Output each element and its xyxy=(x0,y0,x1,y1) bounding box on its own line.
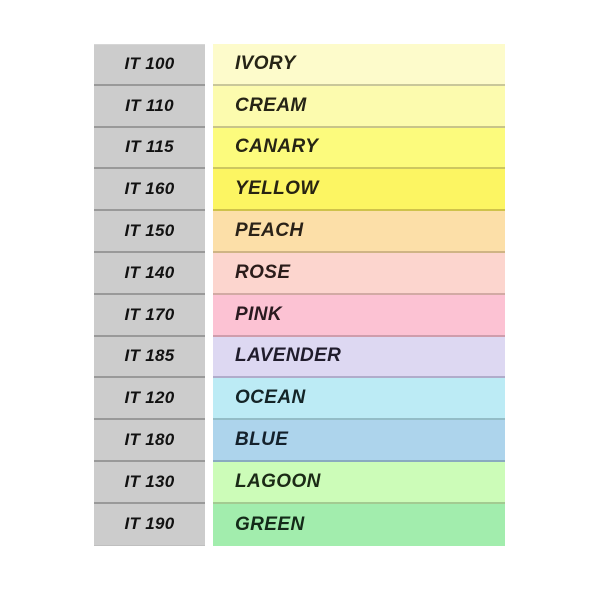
table-row: IT 160YELLOW xyxy=(94,169,505,211)
color-swatch-cell: GREEN xyxy=(213,504,505,546)
product-code-label: IT 140 xyxy=(125,263,175,283)
table-row: IT 180BLUE xyxy=(94,420,505,462)
column-gutter xyxy=(205,378,213,420)
color-swatch-cell: OCEAN xyxy=(213,378,505,420)
column-gutter xyxy=(205,420,213,462)
color-name-label: LAGOON xyxy=(235,471,321,493)
product-code-cell: IT 140 xyxy=(94,253,205,295)
product-code-cell: IT 160 xyxy=(94,169,205,211)
product-code-cell: IT 150 xyxy=(94,211,205,253)
column-gutter xyxy=(205,211,213,253)
color-swatch-cell: ROSE xyxy=(213,253,505,295)
color-name-label: BLUE xyxy=(235,429,288,451)
product-code-cell: IT 110 xyxy=(94,86,205,128)
color-name-label: OCEAN xyxy=(235,387,306,409)
color-name-label: LAVENDER xyxy=(235,345,341,367)
color-swatch-cell: CANARY xyxy=(213,128,505,170)
product-code-cell: IT 190 xyxy=(94,504,205,546)
column-gutter xyxy=(205,169,213,211)
table-row: IT 185LAVENDER xyxy=(94,337,505,379)
color-swatch-cell: CREAM xyxy=(213,86,505,128)
product-code-label: IT 100 xyxy=(125,54,175,74)
product-code-label: IT 120 xyxy=(125,388,175,408)
product-code-cell: IT 115 xyxy=(94,128,205,170)
table-row: IT 115CANARY xyxy=(94,128,505,170)
color-name-label: IVORY xyxy=(235,53,296,75)
color-name-label: PEACH xyxy=(235,220,304,242)
table-row: IT 100IVORY xyxy=(94,44,505,86)
table-row: IT 170PINK xyxy=(94,295,505,337)
product-code-cell: IT 185 xyxy=(94,337,205,379)
color-name-label: CREAM xyxy=(235,95,307,117)
table-row: IT 150PEACH xyxy=(94,211,505,253)
color-swatch-cell: IVORY xyxy=(213,44,505,86)
product-code-label: IT 115 xyxy=(125,137,174,157)
table-row: IT 110CREAM xyxy=(94,86,505,128)
product-code-label: IT 130 xyxy=(125,472,175,492)
column-gutter xyxy=(205,462,213,504)
column-gutter xyxy=(205,44,213,86)
color-swatch-cell: YELLOW xyxy=(213,169,505,211)
column-gutter xyxy=(205,128,213,170)
product-code-label: IT 180 xyxy=(125,430,175,450)
table-row: IT 140ROSE xyxy=(94,253,505,295)
color-swatch-cell: PEACH xyxy=(213,211,505,253)
color-swatch-cell: LAVENDER xyxy=(213,337,505,379)
column-gutter xyxy=(205,337,213,379)
column-gutter xyxy=(205,253,213,295)
table-row: IT 190GREEN xyxy=(94,504,505,546)
column-gutter xyxy=(205,504,213,546)
product-code-label: IT 190 xyxy=(125,514,175,534)
product-code-cell: IT 180 xyxy=(94,420,205,462)
color-swatch-cell: LAGOON xyxy=(213,462,505,504)
product-code-cell: IT 130 xyxy=(94,462,205,504)
product-code-cell: IT 170 xyxy=(94,295,205,337)
product-code-label: IT 160 xyxy=(125,179,175,199)
table-row: IT 130LAGOON xyxy=(94,462,505,504)
color-name-label: ROSE xyxy=(235,262,290,284)
product-code-cell: IT 100 xyxy=(94,44,205,86)
product-code-label: IT 110 xyxy=(125,96,174,116)
column-gutter xyxy=(205,295,213,337)
color-name-label: YELLOW xyxy=(235,178,319,200)
product-code-label: IT 150 xyxy=(125,221,175,241)
color-name-label: CANARY xyxy=(235,136,318,158)
color-swatch-table: IT 100IVORYIT 110CREAMIT 115CANARYIT 160… xyxy=(94,44,505,546)
color-chart-page: IT 100IVORYIT 110CREAMIT 115CANARYIT 160… xyxy=(0,0,600,600)
color-swatch-cell: PINK xyxy=(213,295,505,337)
color-name-label: PINK xyxy=(235,304,282,326)
color-swatch-cell: BLUE xyxy=(213,420,505,462)
color-name-label: GREEN xyxy=(235,514,305,536)
product-code-cell: IT 120 xyxy=(94,378,205,420)
column-gutter xyxy=(205,86,213,128)
table-row: IT 120OCEAN xyxy=(94,378,505,420)
product-code-label: IT 185 xyxy=(125,346,175,366)
product-code-label: IT 170 xyxy=(125,305,175,325)
